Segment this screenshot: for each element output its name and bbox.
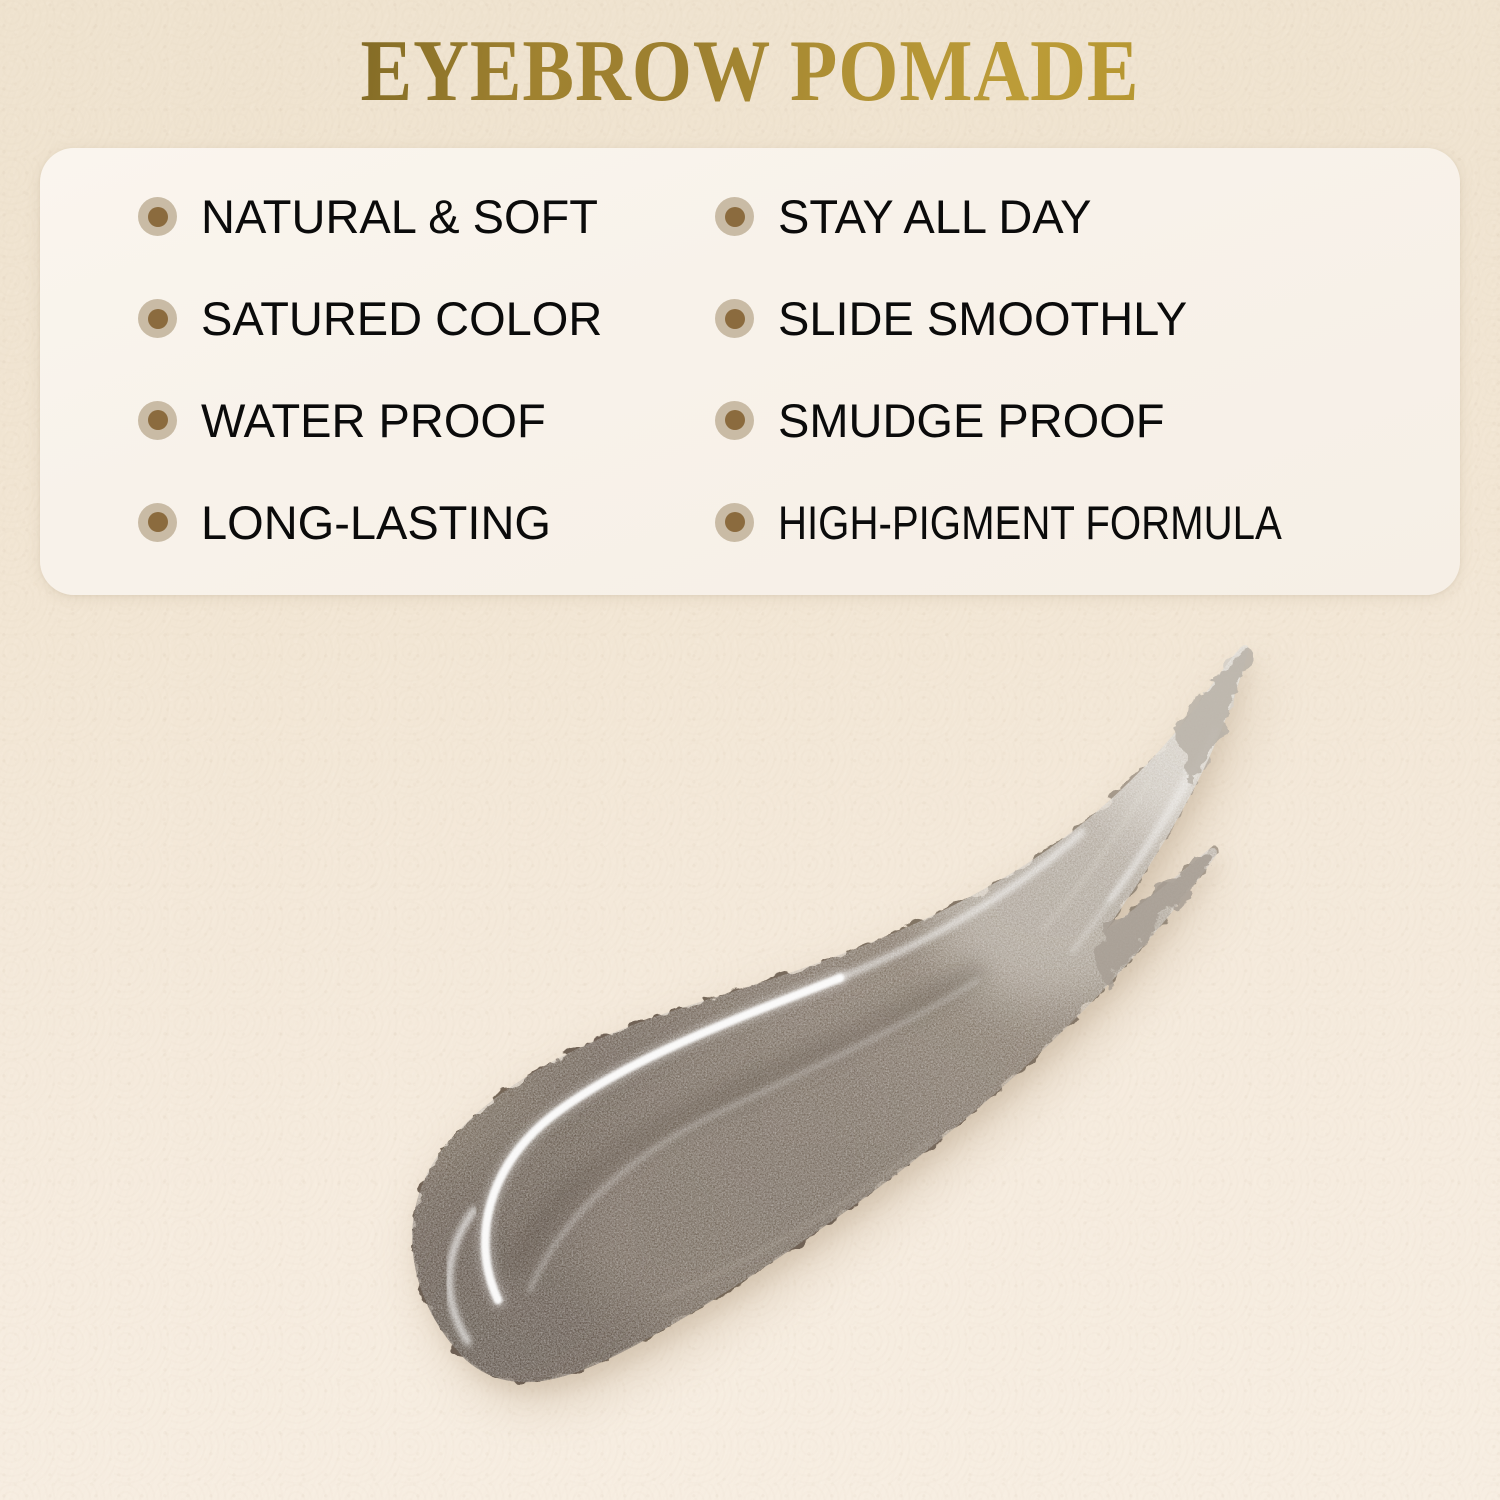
feature-item-stay-all-day: STAY ALL DAY <box>715 166 1460 268</box>
feature-label: SLIDE SMOOTHLY <box>778 295 1187 342</box>
bullet-icon <box>715 503 754 542</box>
feature-item-satured-color: SATURED COLOR <box>40 268 715 370</box>
bullet-icon <box>138 299 177 338</box>
feature-item-long-lasting: LONG-LASTING <box>40 471 715 573</box>
bullet-icon <box>715 401 754 440</box>
feature-label: HIGH-PIGMENT FORMULA <box>778 499 1282 546</box>
feature-label: SMUDGE PROOF <box>778 397 1164 444</box>
feature-label: LONG-LASTING <box>201 499 551 546</box>
bullet-icon <box>138 401 177 440</box>
feature-label: STAY ALL DAY <box>778 193 1092 240</box>
feature-item-natural-and-soft: NATURAL & SOFT <box>40 166 715 268</box>
feature-label: NATURAL & SOFT <box>201 193 598 240</box>
page-title: EYEBROW POMADE <box>90 28 1410 116</box>
swatch-detail <box>230 600 1320 1500</box>
pomade-swatch-image <box>230 600 1320 1500</box>
feature-item-smudge-proof: SMUDGE PROOF <box>715 370 1460 472</box>
bullet-icon <box>715 299 754 338</box>
feature-item-high-pigment-formula: HIGH-PIGMENT FORMULA <box>715 471 1460 573</box>
bullet-icon <box>138 503 177 542</box>
bullet-icon <box>138 197 177 236</box>
feature-item-slide-smoothly: SLIDE SMOOTHLY <box>715 268 1460 370</box>
features-grid: NATURAL & SOFT STAY ALL DAY SATURED COLO… <box>40 148 1460 595</box>
feature-label: WATER PROOF <box>201 397 546 444</box>
bullet-icon <box>715 197 754 236</box>
feature-label: SATURED COLOR <box>201 295 602 342</box>
product-feature-page: EYEBROW POMADE NATURAL & SOFT STAY ALL D… <box>0 0 1500 1500</box>
shimmer-fine <box>230 600 1320 1500</box>
features-card: NATURAL & SOFT STAY ALL DAY SATURED COLO… <box>40 148 1460 595</box>
feature-item-water-proof: WATER PROOF <box>40 370 715 472</box>
